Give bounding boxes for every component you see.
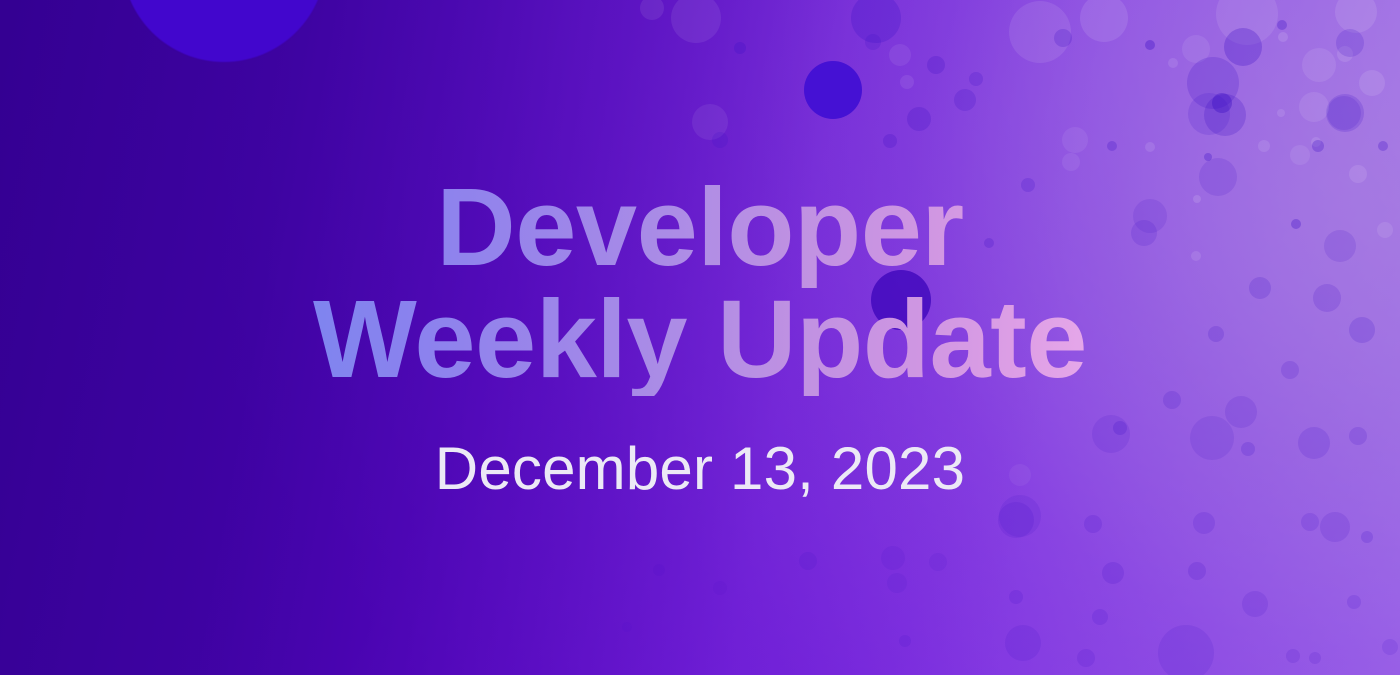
developer-weekly-update-banner: Developer Weekly Update December 13, 202… — [0, 0, 1400, 675]
page-title-line-2: Weekly Update — [313, 284, 1087, 396]
page-title-line-1: Developer — [313, 172, 1087, 284]
page-title: Developer Weekly Update — [307, 172, 1093, 395]
banner-content: Developer Weekly Update December 13, 202… — [0, 0, 1400, 675]
issue-date: December 13, 2023 — [435, 434, 965, 503]
